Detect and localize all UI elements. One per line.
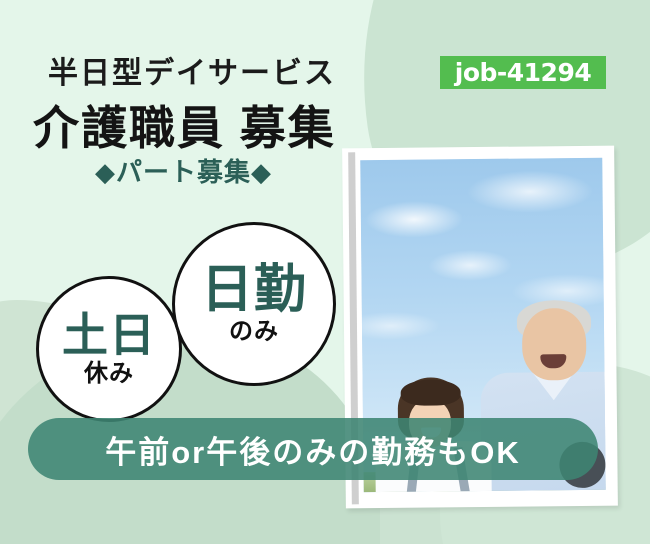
badge-day-shift-main: 日勤 bbox=[201, 264, 307, 316]
job-poster: job-41294 半日型デイサービス 介護職員 募集 ◆パート募集◆ 土日 休… bbox=[0, 0, 650, 544]
badge-weekend-off: 土日 休み bbox=[36, 276, 182, 422]
banner-shift-flexibility: 午前or午後のみの勤務もOK bbox=[28, 418, 598, 480]
banner-shift-flexibility-label: 午前or午後のみの勤務もOK bbox=[105, 427, 521, 472]
badge-weekend-off-main: 土日 bbox=[62, 312, 156, 358]
job-id-badge: job-41294 bbox=[440, 56, 606, 89]
caregiver-fringe bbox=[401, 379, 461, 406]
page-title: 介護職員 募集 bbox=[33, 92, 336, 158]
badge-weekend-off-sub: 休み bbox=[84, 362, 134, 386]
badge-day-shift: 日勤 のみ bbox=[172, 222, 336, 386]
headline-part-time: ◆パート募集◆ bbox=[95, 152, 272, 189]
badge-day-shift-sub: のみ bbox=[229, 320, 279, 344]
elderly-man-head bbox=[522, 308, 587, 381]
headline-subtitle: 半日型デイサービス bbox=[48, 48, 336, 92]
